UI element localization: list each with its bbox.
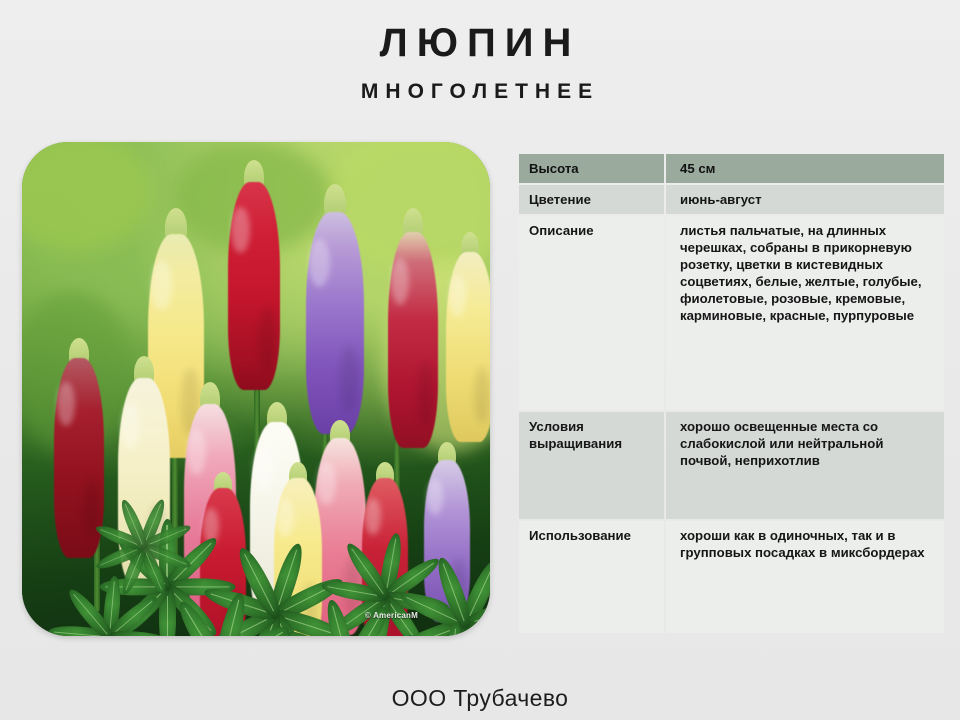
table-row: Использование хороши как в одиночных, та… <box>519 521 944 633</box>
lupine-photo: © AmericanM <box>22 142 490 636</box>
page-subtitle: МНОГОЛЕТНЕЕ <box>0 80 960 104</box>
lupine-leaf-cluster <box>87 491 200 604</box>
flower-spike-violet <box>306 184 364 434</box>
page-title: ЛЮПИН <box>0 22 960 64</box>
flower-spike-pale-yellow <box>446 232 490 442</box>
row-label: Цветение <box>519 185 664 214</box>
row-label: Описание <box>519 216 664 410</box>
slide-canvas: ЛЮПИН МНОГОЛЕТНЕЕ <box>0 0 960 720</box>
row-label: Использование <box>519 521 664 633</box>
row-value: июнь-август <box>666 185 944 214</box>
row-value: листья пальчатые, на длинных черешках, с… <box>666 216 944 410</box>
bokeh-blob <box>22 142 152 252</box>
flower-spike-crimson <box>388 208 438 448</box>
title-block: ЛЮПИН МНОГОЛЕТНЕЕ <box>0 22 960 104</box>
footer-company-name: ООО Трубачево <box>0 685 960 712</box>
table-row: Описание листья пальчатые, на длинных че… <box>519 216 944 410</box>
photo-watermark: © AmericanM <box>365 611 418 620</box>
row-value: хороши как в одиночных, так и в групповы… <box>666 521 944 633</box>
plant-spec-table: Высота 45 см Цветение июнь-август Описан… <box>517 152 946 635</box>
table-row: Цветение июнь-август <box>519 185 944 214</box>
table-row: Высота 45 см <box>519 154 944 183</box>
row-label: Высота <box>519 154 664 183</box>
table-row: Условия выращивания хорошо освещенные ме… <box>519 412 944 519</box>
row-value: 45 см <box>666 154 944 183</box>
photo-canvas: © AmericanM <box>22 142 490 636</box>
flower-spike-red <box>228 160 280 390</box>
row-value: хорошо освещенные места со слабокислой и… <box>666 412 944 519</box>
row-label: Условия выращивания <box>519 412 664 519</box>
